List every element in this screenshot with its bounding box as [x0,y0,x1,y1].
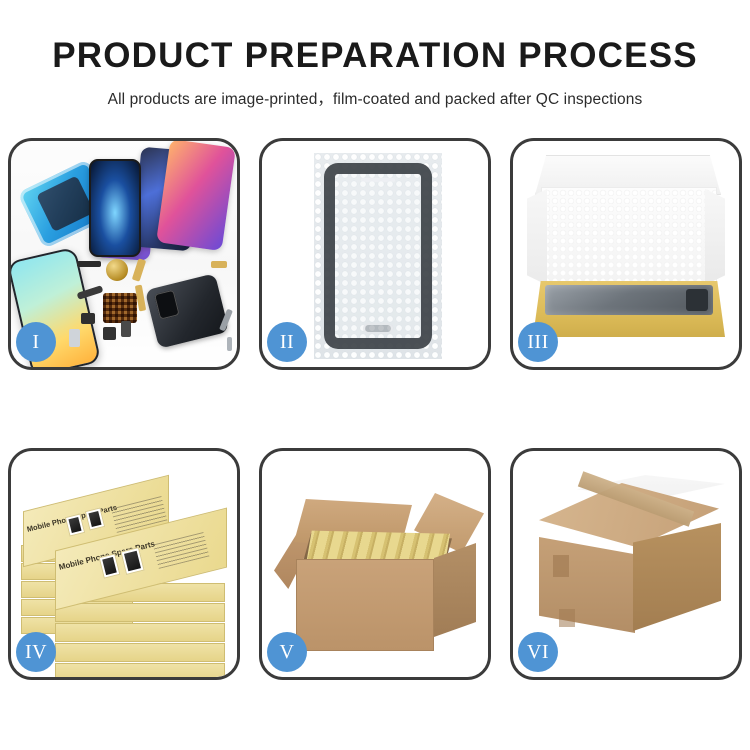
retail-box-edge-10 [55,663,225,677]
step-badge-6: VI [518,632,558,672]
step-badge-4: IV [16,632,56,672]
carton-front-face [296,559,434,651]
page-header: PRODUCT PREPARATION PROCESS All products… [0,0,750,109]
sealed-carton-front-face [539,537,635,633]
bubble-wrap-film [314,153,442,359]
mailer-flap-right [705,189,725,285]
carton-seam-lower [559,609,575,627]
step-badge-3: III [518,322,558,362]
retail-box-edge-8 [55,623,225,642]
home-button-outline-icon [363,323,393,334]
small-component-1 [81,313,95,324]
page-subtitle: All products are image-printed，film-coat… [0,87,750,109]
process-steps-grid: I II III [8,138,742,680]
earpiece-slot-icon [361,178,395,182]
step-badge-2: II [267,322,307,362]
step-badge-5: V [267,632,307,672]
step-card-3[interactable]: III [510,138,742,370]
phone-screen-gradient [156,141,236,251]
connector-grid-part [103,293,137,323]
small-component-4 [69,329,80,347]
step-card-4[interactable]: Mobile Phone Spare Parts Mobile Phone Sp… [8,448,240,680]
step-card-1[interactable]: I [8,138,240,370]
step-card-5[interactable]: V [259,448,491,680]
step-card-6[interactable]: VI [510,448,742,680]
small-component-5 [227,337,232,351]
packed-screen-unit [545,285,713,315]
carton-side-face [434,543,476,637]
step-badge-1: I [16,322,56,362]
retail-box-edge-7 [55,603,225,622]
carton-seam-upper [553,555,569,577]
vibration-motor-part [106,259,128,281]
flex-cable-part-1 [77,261,101,267]
step-card-2[interactable]: II [259,138,491,370]
small-component-6 [211,261,227,268]
phone-screen-front-glass [89,159,141,257]
mailer-flap-left [527,189,547,285]
flex-cable-part-2 [132,258,146,281]
foam-padding [541,187,717,289]
page-title: PRODUCT PREPARATION PROCESS [0,36,750,76]
screen-glass-outline [324,163,432,349]
small-component-3 [121,321,131,337]
retail-box-edge-9 [55,643,225,662]
phone-back-housing [145,273,229,349]
small-component-2 [103,327,116,340]
